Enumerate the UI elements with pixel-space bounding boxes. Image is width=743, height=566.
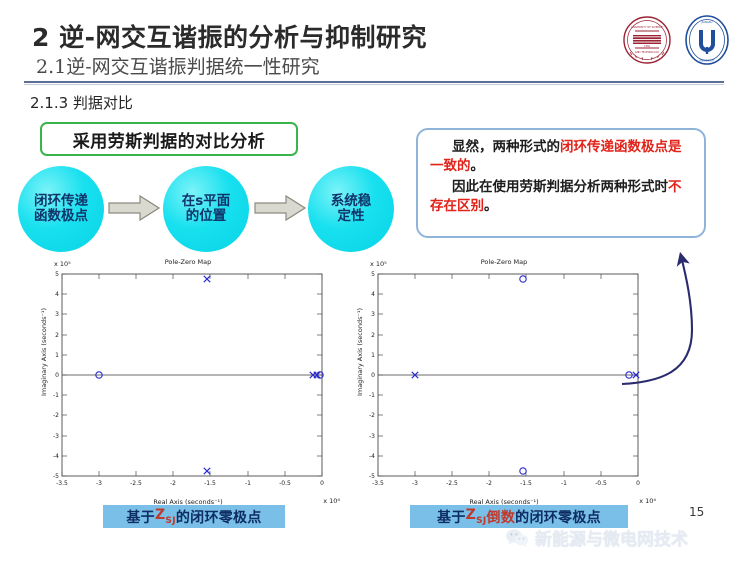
svg-text:-2: -2: [486, 480, 492, 487]
page-number: 15: [689, 505, 704, 519]
flow-node-3-line1: 系统稳: [331, 194, 372, 209]
svg-text:-3: -3: [96, 480, 102, 487]
svg-text:1956: 1956: [644, 45, 651, 48]
caption-left-var-base: Z: [155, 507, 165, 523]
conclusion-note-box: 显然，两种形式的闭环传递函数极点是一致的。 因此在使用劳斯判据分析两种形式时不存…: [416, 128, 706, 238]
svg-text:-3: -3: [53, 433, 59, 440]
svg-text:0: 0: [55, 372, 59, 379]
svg-text:UNIVERSITY: UNIVERSITY: [699, 59, 715, 63]
svg-text:-1: -1: [369, 392, 375, 399]
flow-node-stability: 系统稳 定性: [308, 166, 394, 252]
svg-text:UNIVERSITY OF SCIENCE: UNIVERSITY OF SCIENCE: [631, 25, 663, 29]
curved-arrow-icon: [620, 232, 730, 392]
svg-text:-4: -4: [369, 453, 375, 460]
svg-text:0: 0: [636, 480, 640, 487]
note-p1-end: 。: [471, 158, 485, 174]
caption-right-mid: 倒数: [487, 507, 516, 527]
caption-right-var-base: Z: [466, 507, 476, 523]
svg-text:2: 2: [371, 332, 375, 339]
watermark-text: 新能源与微电网技术: [535, 525, 688, 550]
pole-zero-plot-left: Pole-Zero Map x 10⁵ x 10⁴ Real Axis (sec…: [32, 258, 344, 506]
plot-left-canvas: 543 210 -1-2-3 -4-5 -3.5-3 -2.5-2 -1.5-1…: [32, 258, 344, 506]
block-arrow-right-icon-2: [254, 194, 306, 222]
svg-text:4: 4: [371, 291, 375, 298]
svg-text:-4: -4: [53, 453, 59, 460]
svg-text:-1: -1: [245, 480, 251, 487]
slide-root: 2 逆-网交互谐振的分析与抑制研究 2.1逆-网交互谐振判据统一性研究 UNIV…: [0, 0, 743, 566]
svg-text:-3.5: -3.5: [372, 480, 384, 487]
svg-text:5: 5: [55, 271, 59, 278]
caption-left-var: ZSJ: [155, 507, 176, 526]
section-number: 2.1.3 判据对比: [30, 92, 133, 113]
svg-text:-3: -3: [412, 480, 418, 487]
page-subtitle: 2.1逆-网交互谐振判据统一性研究: [36, 52, 320, 79]
flow-node-1-line1: 闭环传递: [34, 194, 88, 209]
svg-text:-5: -5: [53, 473, 59, 480]
svg-text:-1: -1: [53, 392, 59, 399]
flow-node-2-line1: 在s平面: [182, 194, 231, 209]
flow-node-1-line2: 函数极点: [34, 209, 88, 224]
logo-group: UNIVERSITY OF SCIENCE AND TECHNOLOGY 195…: [621, 14, 731, 66]
svg-text:-2.5: -2.5: [446, 480, 458, 487]
svg-text:-2: -2: [369, 412, 375, 419]
caption-left-pre: 基于: [126, 507, 155, 527]
caption-left: 基于ZSJ的闭环零极点: [103, 505, 285, 528]
svg-text:-1.5: -1.5: [204, 480, 216, 487]
caption-right-var: ZSJ: [466, 507, 487, 526]
svg-text:0: 0: [371, 372, 375, 379]
flow-node-2-line2: 的位置: [182, 209, 231, 224]
svg-text:2: 2: [55, 332, 59, 339]
svg-text:JIANGSU: JIANGSU: [701, 20, 713, 24]
plot-right-canvas: 543 210 -1-2-3 -4-5 -3.5-3 -2.5-2 -1.5-1…: [348, 258, 660, 506]
svg-text:-1.5: -1.5: [520, 480, 532, 487]
caption-right-post: 的闭环零极点: [515, 507, 601, 527]
svg-text:3: 3: [55, 311, 59, 318]
wechat-icon: [505, 528, 529, 548]
analysis-title-label: 采用劳斯判据的对比分析: [73, 127, 266, 152]
svg-text:AND TECHNOLOGY: AND TECHNOLOGY: [635, 50, 660, 54]
svg-text:-3.5: -3.5: [56, 480, 68, 487]
note-p2-text: 因此在使用劳斯判据分析两种形式时: [452, 179, 668, 195]
flow-node-splane: 在s平面 的位置: [163, 166, 249, 252]
svg-text:-2.5: -2.5: [130, 480, 142, 487]
note-p1-mid: ，两种形式的: [479, 139, 560, 155]
header-divider-secondary: [24, 84, 724, 85]
caption-right-var-sub: SJ: [476, 516, 486, 526]
svg-text:4: 4: [55, 291, 59, 298]
note-paragraph-2: 因此在使用劳斯判据分析两种形式时不存在区别。: [430, 178, 694, 216]
caption-left-var-sub: SJ: [165, 516, 175, 526]
svg-text:-5: -5: [369, 473, 375, 480]
svg-text:1: 1: [371, 352, 375, 359]
svg-text:5: 5: [371, 271, 375, 278]
caption-right-pre: 基于: [437, 507, 466, 527]
svg-text:-2: -2: [170, 480, 176, 487]
university-logo-blue: JIANGSU UNIVERSITY: [683, 14, 731, 66]
svg-text:3: 3: [371, 311, 375, 318]
flow-diagram: 闭环传递 函数极点 在s平面 的位置 系统稳 定性: [18, 164, 418, 254]
svg-text:0: 0: [320, 480, 324, 487]
pole-zero-plot-right: Pole-Zero Map x 10⁵ x 10⁴ Real Axis (sec…: [348, 258, 660, 506]
flow-node-3-line2: 定性: [331, 209, 372, 224]
university-logo-red: UNIVERSITY OF SCIENCE AND TECHNOLOGY 195…: [621, 14, 673, 66]
svg-text:-0.5: -0.5: [279, 480, 291, 487]
watermark: 新能源与微电网技术: [505, 525, 688, 550]
analysis-title-box: 采用劳斯判据的对比分析: [40, 122, 298, 156]
svg-text:-0.5: -0.5: [595, 480, 607, 487]
svg-text:1: 1: [55, 352, 59, 359]
note-p2-end: 。: [484, 198, 498, 214]
svg-text:-1: -1: [561, 480, 567, 487]
note-paragraph-1: 显然，两种形式的闭环传递函数极点是一致的。: [430, 138, 694, 176]
flow-node-poles: 闭环传递 函数极点: [18, 166, 104, 252]
svg-text:-3: -3: [369, 433, 375, 440]
block-arrow-right-icon-1: [108, 194, 160, 222]
note-p1-emph: 显然: [452, 139, 479, 155]
svg-text:-2: -2: [53, 412, 59, 419]
slide-header: 2 逆-网交互谐振的分析与抑制研究 2.1逆-网交互谐振判据统一性研究 UNIV…: [0, 0, 743, 88]
caption-left-post: 的闭环零极点: [176, 507, 262, 527]
page-title: 2 逆-网交互谐振的分析与抑制研究: [32, 18, 427, 54]
